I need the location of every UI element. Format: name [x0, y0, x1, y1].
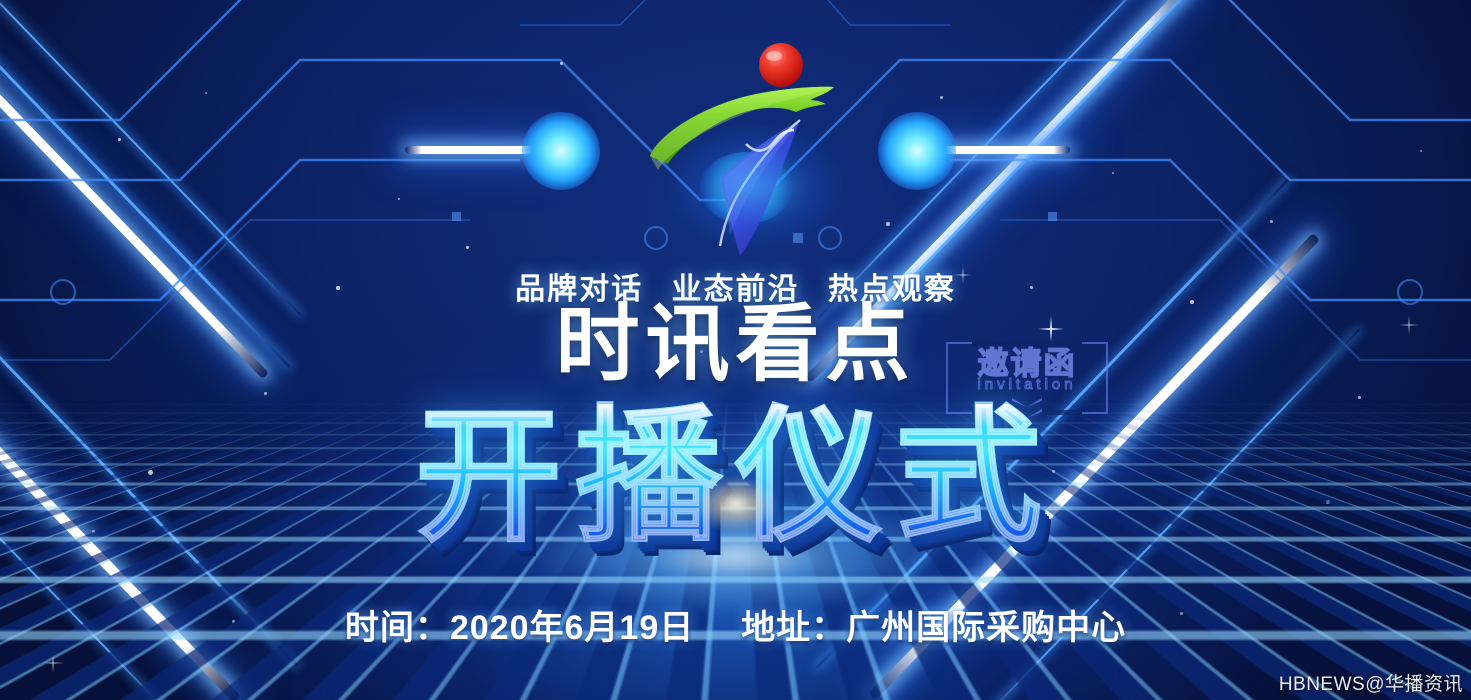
event-info: 时间：2020年6月19日 地址：广州国际采购中心 [0, 600, 1471, 649]
event-time-value: 2020年6月19日 [450, 609, 694, 647]
headline-light-flare [694, 476, 778, 532]
event-venue-value: 广州国际采购中心 [846, 609, 1126, 647]
event-venue-label: 地址： [741, 609, 846, 647]
logo-halo [670, 126, 840, 246]
brand-logo [628, 38, 878, 268]
watermark: HBNEWS@华播资讯 [1279, 669, 1463, 696]
poster-canvas: 品牌对话 业态前沿 热点观察 时讯看点 邀请函 invitation 开播仪式 … [0, 0, 1471, 700]
invitation-label-en: invitation [946, 376, 1108, 393]
brand-title: 时讯看点 [0, 302, 1471, 386]
logo-red-dot [759, 43, 803, 87]
event-time-label: 时间： [345, 609, 450, 647]
